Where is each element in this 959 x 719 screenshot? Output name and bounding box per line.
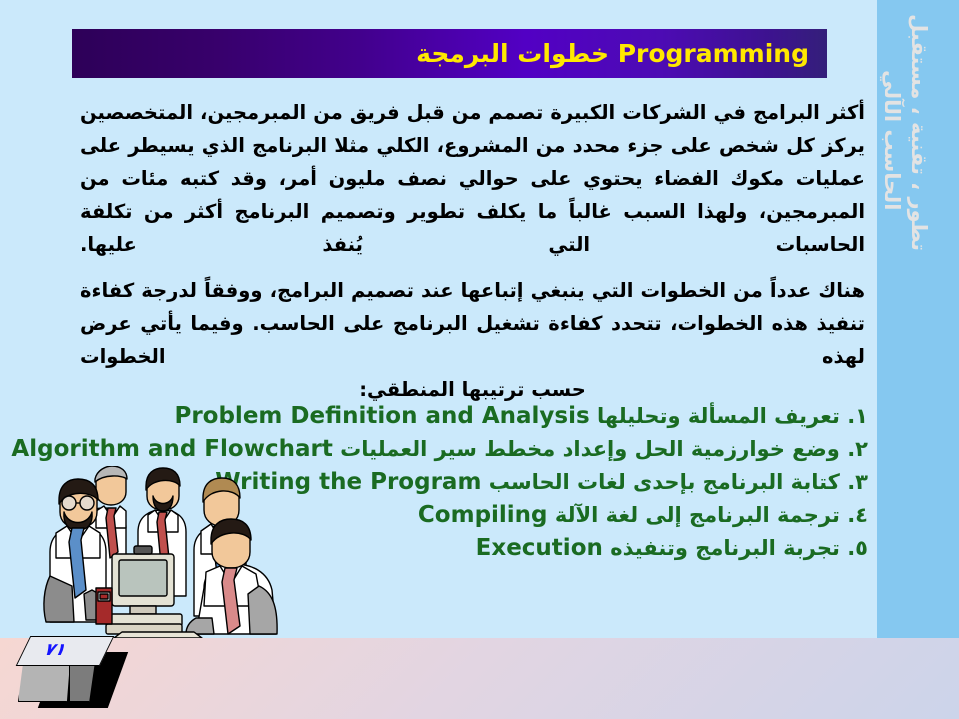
sidebar-label-primary: تطور ، تقنية ، مستقبل: [907, 14, 931, 251]
step-latin: Algorithm and Flowchart: [11, 436, 332, 462]
title-bar: Programming خطوات البرمجة: [72, 29, 827, 78]
paragraph-steps-lead: هناك عدداً من الخطوات التي ينبغي إتباعها…: [80, 274, 865, 406]
list-item: ٢. وضع خوارزمية الحل وإعداد مخطط سير الع…: [60, 433, 868, 466]
step-number: ٣.: [847, 470, 868, 494]
step-number: ١.: [847, 404, 868, 428]
step-arabic: ترجمة البرنامج إلى لغة الآلة: [555, 503, 840, 527]
sidebar-label-secondary: الحاسب الآلي: [880, 70, 904, 210]
keycap-front-face: [18, 662, 70, 702]
step-arabic: تجربة البرنامج وتنفيذه: [610, 536, 840, 560]
sidebar: تطور ، تقنية ، مستقبل الحاسب الآلي: [877, 0, 959, 638]
page-title-spacer: [609, 39, 618, 68]
page-number-badge: ٧١: [18, 634, 148, 714]
step-arabic: كتابة البرنامج بإحدى لغات الحاسب: [489, 470, 840, 494]
step-number: ٢.: [847, 437, 868, 461]
step-arabic: وضع خوارزمية الحل وإعداد مخطط سير العملي…: [340, 437, 840, 461]
step-latin: Compiling: [418, 502, 548, 528]
page-number-value: ٧١: [41, 640, 72, 660]
paragraph-intro-text: أكثر البرامج في الشركات الكبيرة تصمم من …: [80, 101, 865, 256]
page-title-arabic: خطوات البرمجة: [416, 39, 609, 68]
paragraph-steps-lead-main: هناك عدداً من الخطوات التي ينبغي إتباعها…: [80, 274, 865, 373]
step-latin: Execution: [476, 535, 603, 561]
page-title: Programming خطوات البرمجة: [416, 39, 809, 68]
step-number: ٤.: [847, 503, 868, 527]
businessmen-around-computer-illustration: [34, 466, 280, 638]
list-item: ١. تعريف المسألة وتحليلها Problem Defini…: [60, 400, 868, 433]
keycap-top-face: ٧١: [16, 636, 115, 666]
page-title-latin: Programming: [618, 39, 809, 68]
slide: تطور ، تقنية ، مستقبل الحاسب الآلي Progr…: [0, 0, 959, 719]
paragraph-intro: أكثر البرامج في الشركات الكبيرة تصمم من …: [80, 96, 865, 261]
step-number: ٥.: [847, 536, 868, 560]
step-latin: Problem Definition and Analysis: [174, 403, 589, 429]
step-arabic: تعريف المسألة وتحليلها: [597, 404, 840, 428]
